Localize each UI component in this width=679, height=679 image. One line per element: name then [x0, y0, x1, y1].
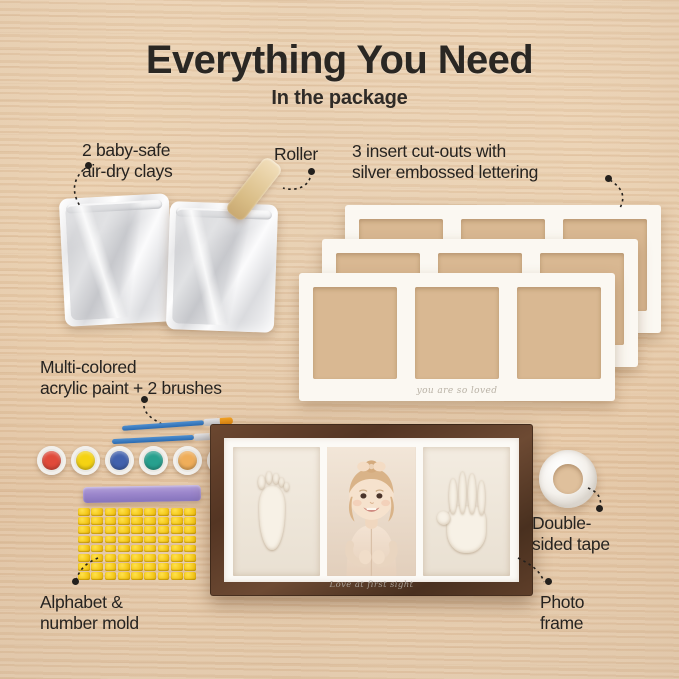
mold-stamp [131, 554, 143, 562]
leader-line-inserts [608, 178, 642, 212]
frame-panes [233, 447, 510, 576]
mold-stamp [78, 508, 90, 516]
mold-stamp [184, 545, 196, 553]
mold-stamp [144, 554, 156, 562]
mold-stamp [78, 536, 90, 544]
mat-script-text: you are so loved [299, 386, 615, 396]
mold-stamp [118, 526, 130, 534]
mold-stamp [118, 536, 130, 544]
leader-dot-frame [545, 578, 552, 585]
mat-window [517, 287, 601, 379]
handprint-finger [468, 473, 476, 514]
frame-caption: Love at first sight [233, 576, 510, 591]
photo-frame: Love at first sight [210, 424, 533, 596]
leader-dot-mold [72, 578, 79, 585]
leader-dot-tape [596, 505, 603, 512]
mold-stamp [118, 508, 130, 516]
leader-dot-roller [308, 168, 315, 175]
mold-stamp [105, 526, 117, 534]
mold-stamp [78, 517, 90, 525]
mold-stamp [171, 554, 183, 562]
mold-stamp [131, 572, 143, 580]
mold-stamp [105, 563, 117, 571]
mold-stamp [118, 517, 130, 525]
leader-dot-inserts [605, 175, 612, 182]
tape-hole [553, 464, 583, 494]
mold-stamp [184, 508, 196, 516]
mold-stamp [158, 517, 170, 525]
insert-mat-1: you are so loved [299, 273, 615, 401]
mold-stamp [118, 554, 130, 562]
paint-pot-orange [173, 446, 202, 475]
mold-stamp [131, 526, 143, 534]
mold-stamp [91, 545, 103, 553]
mold-stamp [105, 554, 117, 562]
mold-stamp [158, 554, 170, 562]
footprint-toe [284, 482, 288, 491]
mold-stamp [184, 526, 196, 534]
infographic-canvas: Everything You Need In the package 2 bab… [0, 0, 679, 679]
mold-stamp [184, 554, 196, 562]
mold-stamp [158, 545, 170, 553]
mold-stamp [91, 508, 103, 516]
mold-stamp [131, 545, 143, 553]
mold-stamp [105, 545, 117, 553]
mold-stamp [184, 536, 196, 544]
mold-stamp [78, 545, 90, 553]
handprint-finger [449, 478, 457, 514]
mold-stamp [105, 508, 117, 516]
baby-photo-pane [327, 447, 416, 576]
mold-stamp [144, 545, 156, 553]
footprint-toe [273, 473, 279, 485]
mold-stamp [171, 508, 183, 516]
leader-dot-paint [141, 396, 148, 403]
leader-line-clays [58, 160, 98, 210]
mold-stamp [171, 572, 183, 580]
mold-stamp [131, 508, 143, 516]
mold-stamp [105, 517, 117, 525]
paint-pot-teal [139, 446, 168, 475]
label-tape: Double- sided tape [532, 513, 610, 555]
mold-stamp [184, 563, 196, 571]
frame-mount: Love at first sight [224, 438, 519, 582]
mold-stamp [184, 572, 196, 580]
mold-stamp [131, 563, 143, 571]
label-roller: Roller [274, 144, 318, 165]
mold-stamp [144, 536, 156, 544]
leader-line-frame [514, 556, 552, 590]
mold-stamp [118, 572, 130, 580]
mold-stamp [91, 517, 103, 525]
label-paint: Multi-colored acrylic paint + 2 brushes [40, 357, 222, 399]
mat-window [415, 287, 499, 379]
paint-pot-blue [105, 446, 134, 475]
footprint-toe [266, 471, 272, 484]
label-mold: Alphabet & number mold [40, 592, 139, 634]
mold-stamp [144, 526, 156, 534]
clay-pouch-2 [166, 201, 278, 333]
mold-stamp [144, 572, 156, 580]
paint-pot-red [37, 446, 66, 475]
mold-stamp [158, 508, 170, 516]
brush-ferrule [194, 433, 211, 441]
mold-stamp [131, 536, 143, 544]
mold-stamp [131, 517, 143, 525]
footprint-cast [259, 486, 285, 550]
mold-stamp [171, 517, 183, 525]
clay-pouch-1 [59, 193, 176, 327]
mold-bar [83, 485, 201, 503]
mold-stamp [118, 545, 130, 553]
leader-dot-clays [85, 162, 92, 169]
label-frame: Photo frame [540, 592, 665, 634]
page-subtitle: In the package [0, 87, 679, 110]
paint-pot-yellow [71, 446, 100, 475]
mold-stamp [171, 526, 183, 534]
mold-stamp [144, 563, 156, 571]
mold-stamp [144, 517, 156, 525]
handprint-finger [478, 480, 485, 515]
mold-stamp [171, 563, 183, 571]
handprint-cast-pane [423, 447, 510, 576]
mold-stamp [158, 526, 170, 534]
mold-stamp [78, 526, 90, 534]
label-inserts: 3 insert cut-outs with silver embossed l… [352, 141, 538, 183]
mold-stamp [91, 536, 103, 544]
mold-stamp [118, 563, 130, 571]
baby-photo [327, 447, 416, 576]
mold-stamp [105, 536, 117, 544]
mold-stamp [144, 508, 156, 516]
mold-stamp [105, 572, 117, 580]
page-title: Everything You Need [0, 38, 679, 83]
mold-stamp [158, 572, 170, 580]
mold-stamp [184, 517, 196, 525]
footprint-cast-pane [233, 447, 320, 576]
mold-stamp [158, 536, 170, 544]
mold-stamp [91, 526, 103, 534]
mold-stamp [158, 563, 170, 571]
mat-window [313, 287, 397, 379]
mold-stamp [171, 545, 183, 553]
mold-stamp [171, 536, 183, 544]
